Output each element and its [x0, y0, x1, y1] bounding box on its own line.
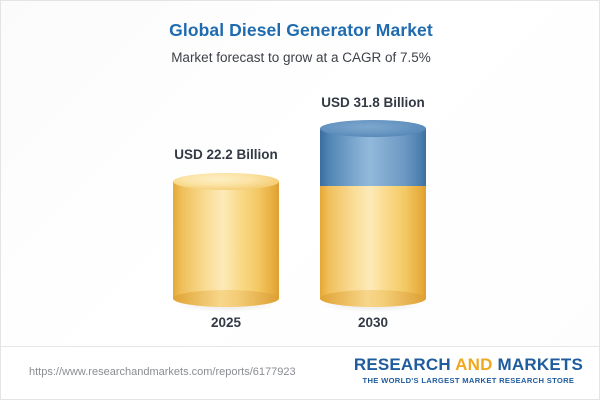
bar-top-ellipse-2025	[173, 173, 279, 190]
market-forecast-card: Global Diesel Generator Market Market fo…	[0, 0, 600, 400]
value-label-2030: USD 31.8 Billion	[298, 94, 448, 111]
bar-chart-plot-area: USD 22.2 Billion 2025 USD 31.8 Billion 2…	[1, 1, 600, 346]
bar-bottom-ellipse-2025	[173, 290, 279, 307]
logo-word-research: RESEARCH	[354, 355, 451, 374]
brand-logo[interactable]: RESEARCH AND MARKETS THE WORLD'S LARGEST…	[354, 355, 583, 386]
category-label-2030: 2030	[298, 314, 448, 331]
source-url[interactable]: https://www.researchandmarkets.com/repor…	[29, 365, 296, 379]
category-label-2025: 2025	[151, 314, 301, 331]
bar-segment-base-2025	[173, 181, 279, 299]
bar-cylinder-2025[interactable]	[173, 173, 279, 307]
bar-segment-base-2030	[320, 181, 426, 299]
logo-tagline: THE WORLD'S LARGEST MARKET RESEARCH STOR…	[354, 376, 583, 386]
bar-top-ellipse-2030	[320, 120, 426, 137]
logo-word-markets: MARKETS	[498, 355, 583, 374]
value-label-2025: USD 22.2 Billion	[151, 146, 301, 163]
bar-cylinder-2030[interactable]	[320, 120, 426, 307]
bar-bottom-ellipse-2030	[320, 290, 426, 307]
logo-wordmark: RESEARCH AND MARKETS	[354, 355, 583, 375]
footer: https://www.researchandmarkets.com/repor…	[1, 346, 600, 399]
logo-word-and: AND	[455, 355, 492, 374]
